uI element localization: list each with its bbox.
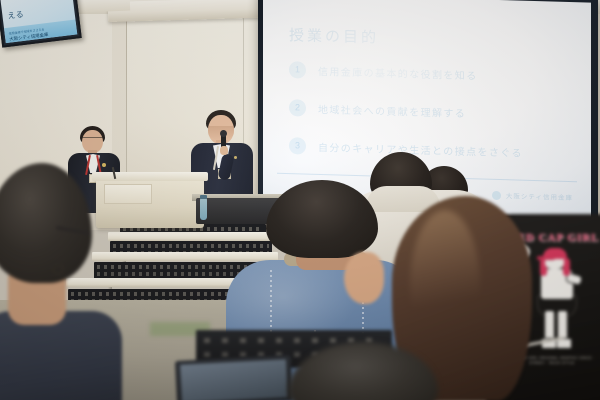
slide-title: 授業の目的 xyxy=(289,24,573,53)
hand xyxy=(344,252,384,304)
hair xyxy=(288,342,438,400)
audience-fuzzy-dark-head xyxy=(288,342,438,400)
lecture-room-photo: える 信用金庫で地域をささえる 大阪シティ信用金庫 授業の目的 1 信用金庫の基… xyxy=(0,0,600,400)
slide-item-number: 2 xyxy=(289,99,306,116)
slide-item-text: 信用金庫の基本的な役割を知る xyxy=(318,63,478,82)
side-monitor-text: える xyxy=(7,9,25,22)
audience-dark-wavy-hair-left xyxy=(0,163,110,400)
laptop-screen xyxy=(180,359,288,400)
lapel-pin-icon xyxy=(234,156,237,159)
hair-highlight xyxy=(410,210,480,360)
navy-shirt xyxy=(0,311,122,400)
wall-seam xyxy=(126,16,127,194)
water-bottle-cap xyxy=(200,195,207,199)
slide-item-number: 3 xyxy=(289,137,306,154)
microphone-head-icon xyxy=(220,130,227,137)
slide-list-item: 2 地域社会への貢献を理解する xyxy=(289,99,573,124)
hair xyxy=(266,180,378,258)
slide-list-item: 3 自分のキャリアや生活との接点をさぐる xyxy=(289,137,573,162)
glasses-icon xyxy=(82,137,103,143)
slide-item-text: 自分のキャリアや生活との接点をさぐる xyxy=(318,139,523,160)
slide-item-text: 地域社会への貢献を理解する xyxy=(318,101,466,120)
hand xyxy=(220,146,228,155)
slide-list-item: 1 信用金庫の基本的な役割を知る xyxy=(289,61,573,86)
lectern-control-panel xyxy=(104,184,152,204)
water-bottle xyxy=(200,198,207,220)
laptop xyxy=(175,355,293,400)
earring-icon xyxy=(52,263,64,275)
hair xyxy=(0,163,92,283)
slide-objective-list: 1 信用金庫の基本的な役割を知る 2 地域社会への貢献を理解する 3 自分のキャ… xyxy=(289,61,573,162)
side-monitor-screen: える 信用金庫で地域をささえる 大阪シティ信用金庫 xyxy=(0,0,77,43)
slide-item-number: 1 xyxy=(289,61,306,78)
